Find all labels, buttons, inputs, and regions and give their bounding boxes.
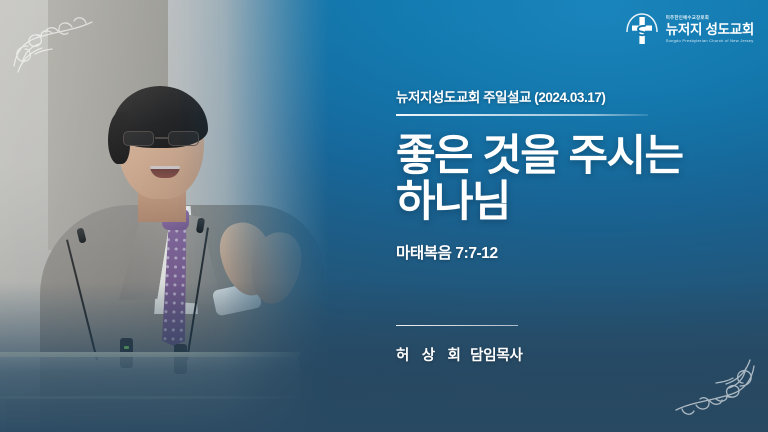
speaker-line: 허 상 회담임목사 [396,344,736,365]
logo-english-name: Sungdo Presbyterian Church of New Jersey [666,39,754,43]
speaker-divider [396,325,518,327]
sermon-series-date: 뉴저지성도교회 주일설교 (2024.03.17) [396,86,736,106]
sermon-title-line-2: 하나님 [396,179,736,225]
church-logo[interactable]: 미주한인예수교장로회 뉴저지 성도교회 Sungdo Presbyterian … [623,10,754,48]
speaker-role: 담임목사 [470,348,523,364]
logo-denomination: 미주한인예수교장로회 [666,16,754,20]
logo-text-block: 미주한인예수교장로회 뉴저지 성도교회 Sungdo Presbyterian … [666,15,754,42]
sermon-info-block: 뉴저지성도교회 주일설교 (2024.03.17) 좋은 것을 주시는 하나님 … [396,86,736,365]
sermon-title-slide: 미주한인예수교장로회 뉴저지 성도교회 Sungdo Presbyterian … [0,0,768,432]
sermon-title-line-1: 좋은 것을 주시는 [396,132,682,180]
sermon-title: 좋은 것을 주시는 하나님 [396,133,736,225]
filigree-ornament-top-left [2,2,94,83]
eyebrow-divider [396,114,648,116]
scripture-reference: 마태복음 7:7-12 [396,241,736,263]
cross-emblem-icon [623,10,661,48]
speaker-name: 허 상 회 [396,348,465,364]
logo-church-name: 뉴저지 성도교회 [666,23,754,37]
